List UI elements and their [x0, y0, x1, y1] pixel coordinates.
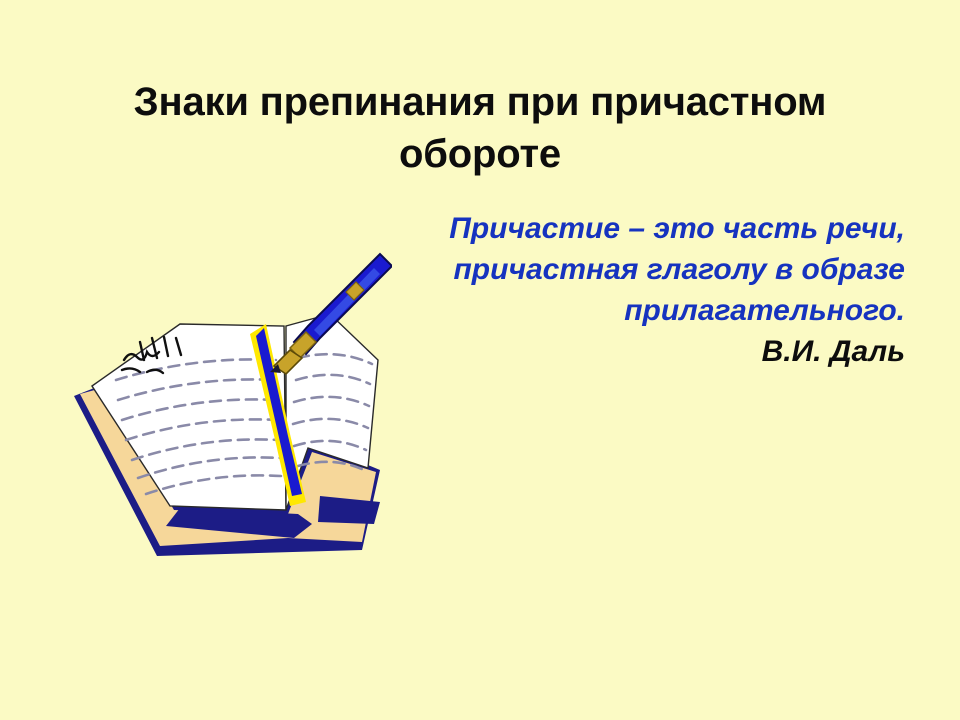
open-book-with-pen-image [62, 238, 392, 578]
quote-text: Причастие – это часть речи, причастная г… [435, 208, 905, 331]
quote-author: В.И. Даль [435, 331, 905, 372]
slide-canvas: Знаки препинания при причастном обороте … [0, 0, 960, 720]
page-title: Знаки препинания при причастном обороте [50, 76, 910, 180]
title-block: Знаки препинания при причастном обороте [50, 76, 910, 180]
quote-block: Причастие – это часть речи, причастная г… [435, 208, 905, 372]
